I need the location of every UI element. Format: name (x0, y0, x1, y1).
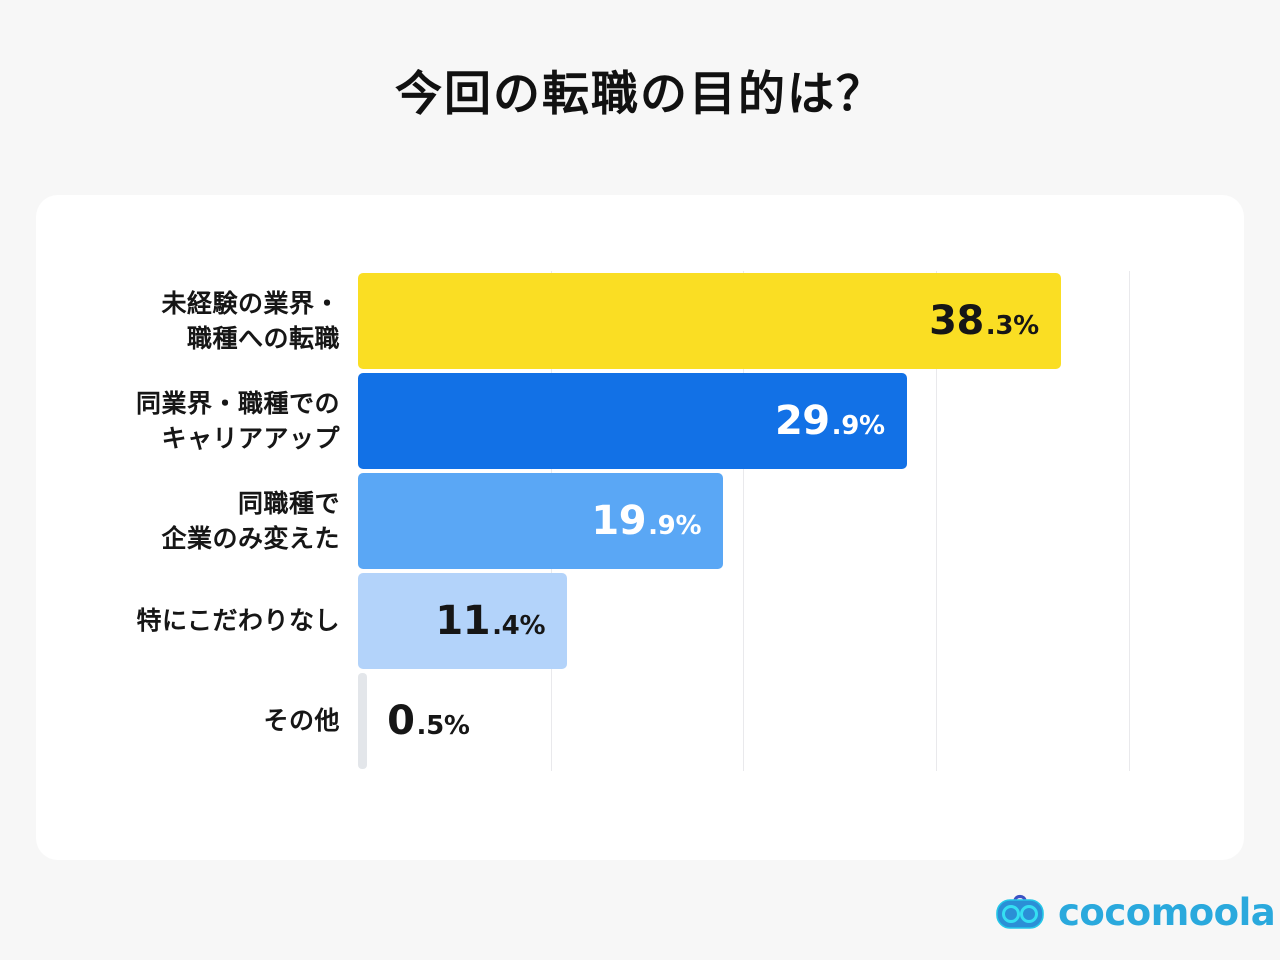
chart-row: 特にこだわりなし11.4% (36, 571, 1244, 671)
value-decimal: .9% (648, 513, 701, 539)
brand-name: cocomoola (1058, 894, 1275, 931)
category-label: 未経験の業界・ 職種への転職 (36, 286, 340, 357)
page-title: 今回の転職の目的は？ (0, 66, 1280, 125)
bar-value-label: 19.9% (591, 501, 701, 541)
bar-container: 29.9% (358, 371, 907, 471)
bar-container: 19.9% (358, 471, 723, 571)
value-integer: 38 (929, 301, 984, 341)
value-integer: 19 (591, 501, 646, 541)
brand-logo: cocomoola (995, 892, 1275, 932)
bar[interactable]: 11.4% (358, 573, 567, 669)
chart-row: 同職種で 企業のみ変えた19.9% (36, 471, 1244, 571)
value-decimal: .3% (986, 313, 1039, 339)
value-decimal: .9% (832, 413, 885, 439)
category-label: 同職種で 企業のみ変えた (36, 486, 340, 557)
bar-container: 38.3% (358, 271, 1061, 371)
bar[interactable]: 38.3% (358, 273, 1061, 369)
value-integer: 11 (435, 601, 490, 641)
chart-rows: 未経験の業界・ 職種への転職38.3%同業界・職種での キャリアアップ29.9%… (36, 271, 1244, 771)
bar-value-label: 11.4% (435, 601, 545, 641)
category-label: 特にこだわりなし (36, 603, 340, 639)
bar-value-label: 0.5% (387, 701, 469, 741)
category-label: 同業界・職種での キャリアアップ (36, 386, 340, 457)
cocomoola-logo-icon (995, 892, 1045, 932)
category-label: その他 (36, 703, 340, 739)
value-integer: 0 (387, 701, 414, 741)
bar-chart: 未経験の業界・ 職種への転職38.3%同業界・職種での キャリアアップ29.9%… (36, 195, 1244, 860)
bar-value-label: 29.9% (775, 401, 885, 441)
bar[interactable]: 29.9% (358, 373, 907, 469)
value-decimal: .5% (417, 713, 470, 739)
bar-container: 0.5% (358, 671, 470, 771)
bar-value-label: 38.3% (929, 301, 1039, 341)
bar[interactable] (358, 673, 367, 769)
chart-card: 未経験の業界・ 職種への転職38.3%同業界・職種での キャリアアップ29.9%… (36, 195, 1244, 860)
chart-row: 同業界・職種での キャリアアップ29.9% (36, 371, 1244, 471)
bar[interactable]: 19.9% (358, 473, 723, 569)
value-decimal: .4% (492, 613, 545, 639)
bar-container: 11.4% (358, 571, 567, 671)
chart-row: その他0.5% (36, 671, 1244, 771)
value-integer: 29 (775, 401, 830, 441)
chart-row: 未経験の業界・ 職種への転職38.3% (36, 271, 1244, 371)
